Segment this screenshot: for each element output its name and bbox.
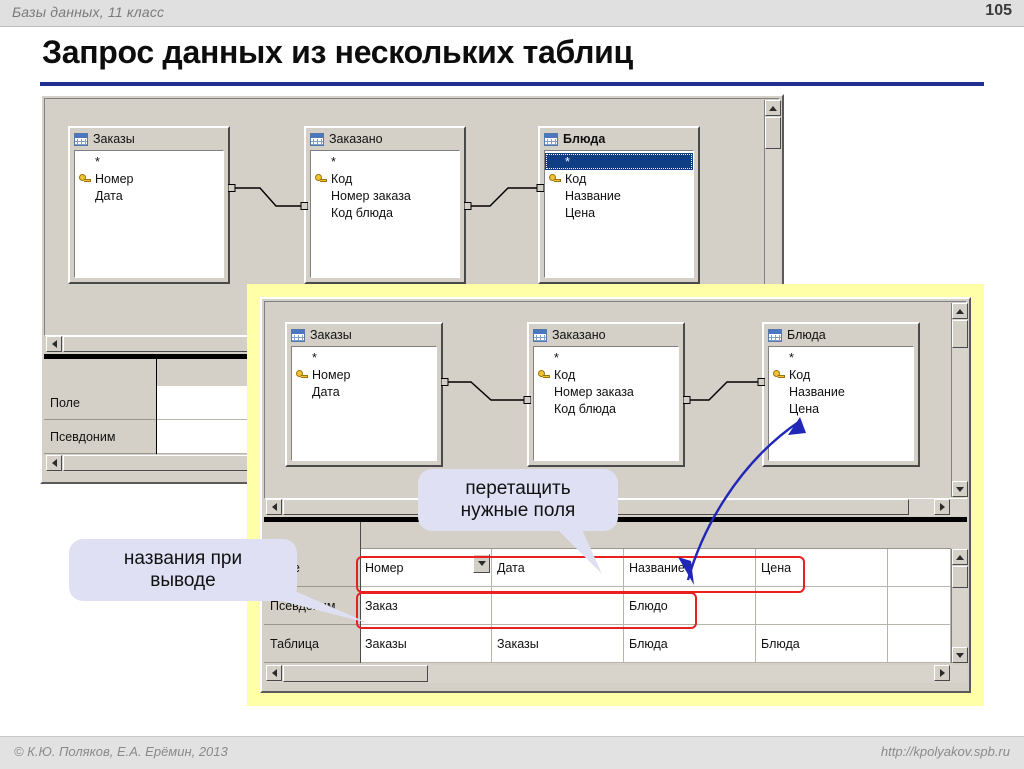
field-label: Дата [95,189,123,203]
key-icon [315,173,327,185]
field-label: * [565,157,570,167]
field-label: Код [331,172,352,186]
table-name: Блюда [563,132,605,146]
scroll-left-button[interactable] [46,336,62,352]
page-title: Запрос данных из нескольких таблиц [42,34,633,71]
qbe-cell-table-1[interactable]: Заказы [492,625,624,663]
qbe-hscrollbar[interactable] [266,665,967,683]
qbe-cell-table-2[interactable]: Блюда [624,625,756,663]
field-row[interactable]: Номер [75,170,223,187]
field-row-selected[interactable]: * [545,153,693,170]
callout-drag-fields: перетащить нужные поля [418,469,618,531]
chevron-left-icon [52,459,57,467]
scroll-up-button[interactable] [765,100,781,116]
field-label: * [95,157,100,167]
highlight-alias-row [356,592,697,629]
table-box-header: Блюда [540,128,698,150]
key-icon [79,173,91,185]
scroll-up-button[interactable] [952,549,968,565]
field-label: Номер [95,172,133,186]
field-label: * [554,353,559,363]
table-box-header: Заказы [287,324,441,346]
field-label: Дата [312,385,340,399]
chevron-right-icon [940,503,945,511]
field-row[interactable]: Код блюда [311,204,459,221]
title-underline [40,82,984,86]
callout-text: названия при выводе [124,548,242,591]
bg-table-box-zakazy[interactable]: Заказы * Номер Дата [68,126,230,284]
scroll-down-button[interactable] [952,481,968,497]
qbe-vscrollbar[interactable] [951,549,967,663]
table-name: Заказано [329,132,383,146]
table-icon [768,329,782,342]
scrollbar-thumb[interactable] [952,320,968,348]
field-row[interactable]: Код блюда [534,400,678,417]
field-label: Название [565,189,621,203]
qbe-cell-field-4[interactable] [888,549,951,587]
scroll-down-button[interactable] [952,647,968,663]
chevron-down-icon [956,653,964,658]
bg-qbe-row-label-alias: Псевдоним [44,420,156,454]
footer-url[interactable]: http://kpolyakov.spb.ru [881,744,1010,759]
field-row[interactable]: Номер заказа [534,383,678,400]
qbe-cell-table-3[interactable]: Блюда [756,625,888,663]
scrollbar-thumb[interactable] [283,665,428,682]
field-label: Цена [565,206,595,220]
field-label: Код [565,172,586,186]
key-icon [773,369,785,381]
field-label: Код блюда [554,402,616,416]
table-name: Заказы [93,132,135,146]
field-label: Код блюда [331,206,393,220]
table-box-header: Заказы [70,128,228,150]
chevron-left-icon [272,503,277,511]
scroll-left-button[interactable] [266,665,282,681]
scrollbar-thumb[interactable] [952,566,968,588]
table-box-header: Заказано [306,128,464,150]
callout-text: перетащить нужные поля [461,478,576,521]
field-label: * [312,353,317,363]
field-label: Код [554,368,575,382]
chevron-up-icon [769,106,777,111]
field-label: Номер [312,368,350,382]
table-name: Заказы [310,328,352,342]
chevron-right-icon [940,669,945,677]
scroll-right-button[interactable] [934,665,950,681]
field-row[interactable]: Код [311,170,459,187]
table-name: Заказано [552,328,606,342]
table-icon [544,133,558,146]
key-icon [538,369,550,381]
table-box-header: Заказано [529,324,683,346]
scroll-up-button[interactable] [952,303,968,319]
field-label: * [789,353,794,363]
bg-qbe-row-label-pole: Поле [44,386,156,420]
field-row[interactable]: Дата [292,383,436,400]
table-name: Блюда [787,328,826,342]
qbe-column-divider [156,359,157,454]
table-icon [310,133,324,146]
field-row[interactable]: * [292,349,436,366]
field-row[interactable]: * [311,153,459,170]
field-row[interactable]: Цена [545,204,693,221]
scroll-left-button[interactable] [46,455,62,471]
slide-page-number: 105 [985,2,1012,20]
field-row[interactable]: Код [769,366,913,383]
chevron-left-icon [52,340,57,348]
qbe-cell-table-0[interactable]: Заказы [360,625,492,663]
key-icon [296,369,308,381]
field-row[interactable]: Код [545,170,693,187]
callout-line-2: выводе [150,570,215,591]
chevron-up-icon [956,555,964,560]
chevron-left-icon [272,669,277,677]
scroll-right-button[interactable] [934,499,950,515]
field-row[interactable]: * [769,349,913,366]
field-label: Код [789,368,810,382]
callout-line-1: перетащить [465,478,570,499]
qbe-corner-cell [44,359,156,387]
slide-subject: Базы данных, 11 класс [12,4,164,20]
table-field-list[interactable]: * Код Название Цена [544,150,694,278]
field-label: Номер заказа [331,189,411,203]
scrollbar-thumb[interactable] [765,117,781,149]
field-label: * [331,157,336,167]
callout-line-2: нужные поля [461,500,576,521]
table-box-header: Блюда [764,324,918,346]
blue-arrow-head-down [672,555,702,587]
chevron-down-icon [956,487,964,492]
field-row[interactable]: * [534,349,678,366]
chevron-up-icon [956,309,964,314]
table-field-list[interactable]: * Номер Дата [74,150,224,278]
table-icon [533,329,547,342]
footer-copyright: © К.Ю. Поляков, Е.А. Ерёмин, 2013 [14,744,228,759]
bg-table-box-blyuda[interactable]: Блюда * Код Название Цена [538,126,700,284]
foreground-diagram-vscrollbar[interactable] [951,303,967,497]
field-label: Номер заказа [554,385,634,399]
key-icon [549,173,561,185]
scroll-left-button[interactable] [266,499,282,515]
field-row[interactable]: Дата [75,187,223,204]
table-icon [291,329,305,342]
table-field-list[interactable]: * Номер Дата [291,346,437,461]
qbe-row-label-table: Таблица [264,625,360,663]
table-field-list[interactable]: * Код Номер заказа Код блюда [310,150,460,278]
table-icon [74,133,88,146]
callout-line-1: названия при [124,548,242,569]
field-row[interactable]: Название [545,187,693,204]
table-field-list[interactable]: * Код Номер заказа Код блюда [533,346,679,461]
fg-table-box-zakazy[interactable]: Заказы * Номер Дата [285,322,443,467]
qbe-cell-table-4[interactable] [888,625,951,663]
field-row[interactable]: Код [534,366,678,383]
bg-table-box-zakazano[interactable]: Заказано * Код Номер заказа Код блюда [304,126,466,284]
qbe-cell-alias-4[interactable] [888,587,951,625]
callout-output-names: названия при выводе [69,539,297,601]
field-row[interactable]: Номер [292,366,436,383]
field-row[interactable]: Номер заказа [311,187,459,204]
field-row[interactable]: * [75,153,223,170]
